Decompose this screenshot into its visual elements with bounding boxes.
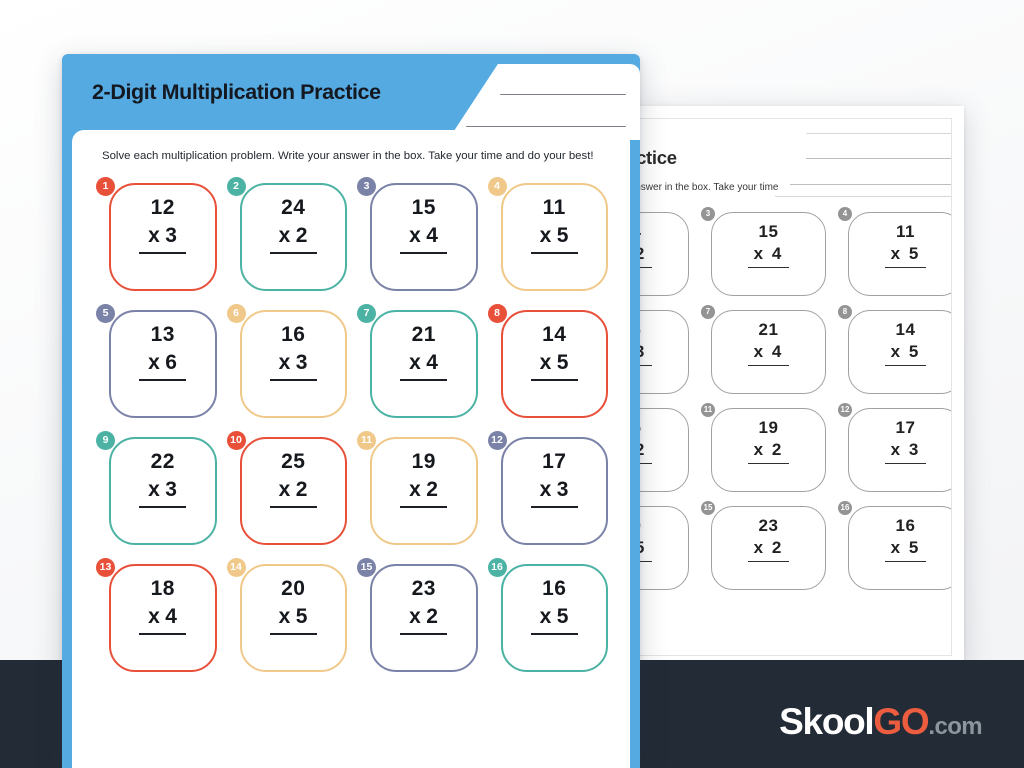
multiplication-operator: x <box>540 605 552 628</box>
problem-cell: 1616x5 <box>488 564 609 672</box>
background-problem-card: 25x 2 <box>638 408 689 492</box>
background-problem-number-badge: 15 <box>701 501 715 515</box>
problem-number-badge: 13 <box>96 558 115 577</box>
worksheet-header: 2-Digit Multiplication Practice <box>62 54 640 130</box>
operand-multiplier: 2 <box>426 478 438 501</box>
background-problem-cell: 315x 4 <box>701 212 826 296</box>
problem-cell: 224x2 <box>227 183 348 291</box>
background-problem-cell: 224x 2 <box>638 212 689 296</box>
multiplication-operator: x <box>540 224 552 247</box>
background-problem-card: 23x 2 <box>711 506 826 590</box>
problem-number-badge: 10 <box>227 431 246 450</box>
multiplication-operator: x <box>409 351 421 374</box>
background-operand-top: 19 <box>759 418 779 438</box>
operand-multiplier: 4 <box>426 224 438 247</box>
problem-number-badge: 3 <box>357 177 376 196</box>
operand-bottom-row: x6 <box>139 349 186 381</box>
background-problem-number-badge: 12 <box>838 403 852 417</box>
operand-top: 22 <box>151 451 175 473</box>
background-problem-cell: 721x 4 <box>701 310 826 394</box>
background-operand-bottom-row: x 2 <box>748 439 790 464</box>
background-operand-bottom-row: x 4 <box>748 341 790 366</box>
problem-cell: 1523x2 <box>357 564 478 672</box>
problem-number-badge: 5 <box>96 304 115 323</box>
problem-card[interactable]: 19x2 <box>370 437 478 545</box>
worksheet-sheet: 2-Digit Multiplication Practice Solve ea… <box>62 54 640 768</box>
operand-multiplier: 4 <box>426 351 438 374</box>
problem-card[interactable]: 17x3 <box>501 437 609 545</box>
problem-number-badge: 11 <box>357 431 376 450</box>
background-problem-card: 16x 5 <box>848 506 952 590</box>
background-problem-number-badge: 4 <box>838 207 852 221</box>
operand-top: 11 <box>543 197 566 219</box>
background-problem-cell: 1420x 5 <box>638 506 689 590</box>
background-problem-grid: 112x 3224x 2315x 4411x 5513x 6616x 3721x… <box>638 196 952 590</box>
background-problem-number-badge: 16 <box>838 501 852 515</box>
operand-top: 16 <box>281 324 305 346</box>
problem-card[interactable]: 25x2 <box>240 437 348 545</box>
operand-multiplier: 2 <box>426 605 438 628</box>
background-problem-card: 16x 3 <box>638 310 689 394</box>
operand-top: 14 <box>542 324 566 346</box>
operand-multiplier: 2 <box>296 224 308 247</box>
operand-multiplier: 3 <box>296 351 308 374</box>
problem-card[interactable]: 15x4 <box>370 183 478 291</box>
background-operand-top: 23 <box>759 516 779 536</box>
problem-number-badge: 7 <box>357 304 376 323</box>
background-problem-card: 15x 4 <box>711 212 826 296</box>
problem-cell: 1420x5 <box>227 564 348 672</box>
problem-number-badge: 12 <box>488 431 507 450</box>
operand-multiplier: 3 <box>165 478 177 501</box>
problem-cell: 1318x4 <box>96 564 217 672</box>
background-name-line <box>806 158 952 159</box>
background-problem-cell: 1025x 2 <box>638 408 689 492</box>
multiplication-operator: x <box>540 351 552 374</box>
name-date-box[interactable] <box>448 64 640 140</box>
background-operand-top: 14 <box>896 320 916 340</box>
background-problem-cell: 814x 5 <box>838 310 952 394</box>
background-problem-cell: 1119x 2 <box>701 408 826 492</box>
operand-multiplier: 5 <box>557 351 569 374</box>
skoolgo-logo[interactable]: SkoolGO.com <box>779 703 982 740</box>
background-problem-card: 19x 2 <box>711 408 826 492</box>
operand-bottom-row: x4 <box>139 603 186 635</box>
date-line[interactable] <box>466 126 626 127</box>
background-operand-top: 21 <box>759 320 779 340</box>
background-operand-bottom-row: x 5 <box>885 537 927 562</box>
operand-top: 17 <box>542 451 566 473</box>
problem-cell: 922x3 <box>96 437 217 545</box>
operand-bottom-row: x2 <box>270 222 317 254</box>
logo-text-go: GO <box>873 701 928 742</box>
operand-top: 16 <box>542 578 566 600</box>
operand-top: 24 <box>281 197 305 219</box>
logo-text-dotcom: .com <box>928 713 982 740</box>
operand-multiplier: 2 <box>296 478 308 501</box>
background-problem-number-badge: 3 <box>701 207 715 221</box>
background-problem-cell: 1616x 5 <box>838 506 952 590</box>
operand-multiplier: 5 <box>557 605 569 628</box>
problem-card[interactable]: 13x6 <box>109 310 217 418</box>
instructions-text: Solve each multiplication problem. Write… <box>72 130 630 165</box>
multiplication-operator: x <box>409 605 421 628</box>
background-operand-top: 15 <box>759 222 779 242</box>
operand-top: 25 <box>281 451 305 473</box>
page-title: 2-Digit Multiplication Practice <box>92 80 381 105</box>
problem-cell: 1217x3 <box>488 437 609 545</box>
operand-top: 12 <box>151 197 175 219</box>
background-operand-bottom-row: x 2 <box>638 439 652 464</box>
problem-card[interactable]: 22x3 <box>109 437 217 545</box>
problem-card[interactable]: 14x5 <box>501 310 609 418</box>
problem-cell: 721x4 <box>357 310 478 418</box>
operand-bottom-row: x5 <box>531 603 578 635</box>
multiplication-operator: x <box>540 478 552 501</box>
operand-bottom-row: x4 <box>400 349 447 381</box>
multiplication-operator: x <box>148 351 160 374</box>
operand-multiplier: 4 <box>165 605 177 628</box>
problem-number-badge: 6 <box>227 304 246 323</box>
background-operand-bottom-row: x 2 <box>748 537 790 562</box>
operand-multiplier: 3 <box>165 224 177 247</box>
background-problem-cell: 411x 5 <box>838 212 952 296</box>
operand-top: 13 <box>151 324 175 346</box>
problem-card[interactable]: 11x5 <box>501 183 609 291</box>
operand-multiplier: 3 <box>557 478 569 501</box>
operand-bottom-row: x2 <box>270 476 317 508</box>
operand-bottom-row: x3 <box>270 349 317 381</box>
problem-card[interactable]: 16x5 <box>501 564 609 672</box>
problem-card[interactable]: 23x2 <box>370 564 478 672</box>
problem-card[interactable]: 12x3 <box>109 183 217 291</box>
worksheet-content-card: Solve each multiplication problem. Write… <box>72 130 630 768</box>
background-operand-top: 16 <box>896 516 916 536</box>
operand-bottom-row: x5 <box>270 603 317 635</box>
problem-card[interactable]: 16x3 <box>240 310 348 418</box>
background-problem-cell: 616x 3 <box>638 310 689 394</box>
background-problem-cell: 1217x 3 <box>838 408 952 492</box>
operand-top: 20 <box>281 578 305 600</box>
problem-number-badge: 8 <box>488 304 507 323</box>
operand-top: 23 <box>412 578 436 600</box>
operand-bottom-row: x3 <box>531 476 578 508</box>
problem-cell: 814x5 <box>488 310 609 418</box>
background-problem-number-badge: 8 <box>838 305 852 319</box>
operand-multiplier: 5 <box>296 605 308 628</box>
background-problem-card: 20x 5 <box>638 506 689 590</box>
operand-bottom-row: x2 <box>400 603 447 635</box>
problem-number-badge: 14 <box>227 558 246 577</box>
problem-number-badge: 9 <box>96 431 115 450</box>
operand-top: 15 <box>412 197 436 219</box>
background-operand-top: 17 <box>896 418 916 438</box>
operand-top: 19 <box>412 451 436 473</box>
background-operand-bottom-row: x 5 <box>638 537 652 562</box>
operand-bottom-row: x5 <box>531 222 578 254</box>
multiplication-operator: x <box>279 605 291 628</box>
multiplication-operator: x <box>409 478 421 501</box>
operand-multiplier: 5 <box>557 224 569 247</box>
background-operand-bottom-row: x 4 <box>748 243 790 268</box>
operand-bottom-row: x2 <box>400 476 447 508</box>
problem-card[interactable]: 18x4 <box>109 564 217 672</box>
operand-bottom-row: x3 <box>139 222 186 254</box>
multiplication-operator: x <box>279 478 291 501</box>
background-problem-card: 11x 5 <box>848 212 952 296</box>
operand-top: 18 <box>151 578 175 600</box>
background-worksheet-content: 2-Digit Multiplication Practice Solve ea… <box>638 119 952 590</box>
multiplication-operator: x <box>409 224 421 247</box>
background-problem-card: 21x 4 <box>711 310 826 394</box>
background-operand-bottom-row: x 3 <box>638 341 652 366</box>
background-operand-top: 11 <box>896 222 915 242</box>
problem-cell: 315x4 <box>357 183 478 291</box>
background-date-line <box>790 184 952 185</box>
problem-cell: 411x5 <box>488 183 609 291</box>
problem-card[interactable]: 20x5 <box>240 564 348 672</box>
operand-bottom-row: x4 <box>400 222 447 254</box>
background-worksheet-sheet: 2-Digit Multiplication Practice Solve ea… <box>628 106 964 666</box>
problem-cell: 513x6 <box>96 310 217 418</box>
problem-number-badge: 15 <box>357 558 376 577</box>
operand-multiplier: 6 <box>165 351 177 374</box>
multiplication-operator: x <box>148 224 160 247</box>
multiplication-operator: x <box>148 605 160 628</box>
background-problem-number-badge: 7 <box>701 305 715 319</box>
background-operand-bottom-row: x 5 <box>885 341 927 366</box>
background-problem-number-badge: 11 <box>701 403 715 417</box>
problem-grid: 112x3224x2315x4411x5513x6616x3721x4814x5… <box>72 165 630 672</box>
background-problem-card: 17x 3 <box>848 408 952 492</box>
problem-cell: 1119x2 <box>357 437 478 545</box>
logo-text-skool: Skool <box>779 701 873 742</box>
background-problem-cell: 1523x 2 <box>701 506 826 590</box>
multiplication-operator: x <box>279 351 291 374</box>
operand-top: 21 <box>412 324 436 346</box>
problem-number-badge: 4 <box>488 177 507 196</box>
problem-number-badge: 16 <box>488 558 507 577</box>
problem-number-badge: 1 <box>96 177 115 196</box>
problem-cell: 112x3 <box>96 183 217 291</box>
operand-bottom-row: x5 <box>531 349 578 381</box>
name-line[interactable] <box>500 94 626 95</box>
multiplication-operator: x <box>279 224 291 247</box>
background-worksheet-card: 2-Digit Multiplication Practice Solve ea… <box>638 118 952 656</box>
background-problem-card: 24x 2 <box>638 212 689 296</box>
background-operand-bottom-row: x 5 <box>885 243 927 268</box>
background-problem-card: 14x 5 <box>848 310 952 394</box>
multiplication-operator: x <box>148 478 160 501</box>
problem-cell: 1025x2 <box>227 437 348 545</box>
problem-number-badge: 2 <box>227 177 246 196</box>
operand-bottom-row: x3 <box>139 476 186 508</box>
background-operand-bottom-row: x 2 <box>638 243 652 268</box>
problem-card[interactable]: 21x4 <box>370 310 478 418</box>
problem-card[interactable]: 24x2 <box>240 183 348 291</box>
background-operand-bottom-row: x 3 <box>885 439 927 464</box>
problem-cell: 616x3 <box>227 310 348 418</box>
